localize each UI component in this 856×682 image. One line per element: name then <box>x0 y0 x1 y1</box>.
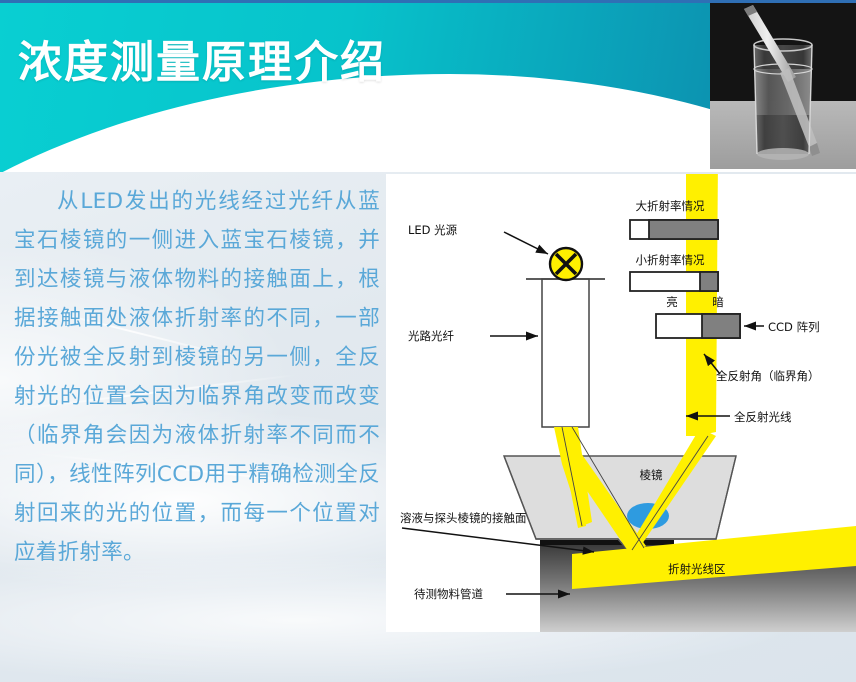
callout-optical-fiber: 光路光纤 <box>408 329 538 343</box>
material-pipe-label: 待测物料管道 <box>414 587 483 601</box>
callout-ccd-array: CCD 阵列 <box>744 320 820 334</box>
contact-surface-label: 溶液与探头棱镜的接触面 <box>400 511 527 525</box>
diagram-svg: 棱镜 <box>386 174 856 632</box>
legend-high-ri-label: 大折射率情况 <box>636 199 705 213</box>
ccd-bright-label: 亮 <box>666 295 678 309</box>
callout-critical-angle: 全反射角（临界角） <box>704 354 820 383</box>
critical-angle-label: 全反射角（临界角） <box>716 369 820 383</box>
slide-root: 浓度测量原理介绍 <box>0 0 856 682</box>
callout-refracted-zone: 折射光线区 <box>668 562 726 576</box>
refracted-zone-label: 折射光线区 <box>668 562 726 576</box>
legend-low-ri-label: 小折射率情况 <box>636 253 705 267</box>
principle-diagram: 棱镜 <box>386 174 856 632</box>
page-title: 浓度测量原理介绍 <box>18 26 386 90</box>
ccd-dark-label: 暗 <box>712 295 724 309</box>
led-source-label: LED 光源 <box>408 223 458 237</box>
total-reflected-ray-label: 全反射光线 <box>734 410 792 424</box>
prism-label: 棱镜 <box>640 468 663 482</box>
optical-fiber-label: 光路光纤 <box>408 329 454 343</box>
fiber-tube-group <box>526 248 605 427</box>
refraction-photo <box>710 3 856 169</box>
ccd-array-label: CCD 阵列 <box>768 320 820 334</box>
callout-led-source: LED 光源 <box>408 223 548 254</box>
principle-paragraph: 从LED发出的光线经过光纤从蓝宝石棱镜的一侧进入蓝宝石棱镜，并到达棱镜与液体物料… <box>14 182 380 572</box>
